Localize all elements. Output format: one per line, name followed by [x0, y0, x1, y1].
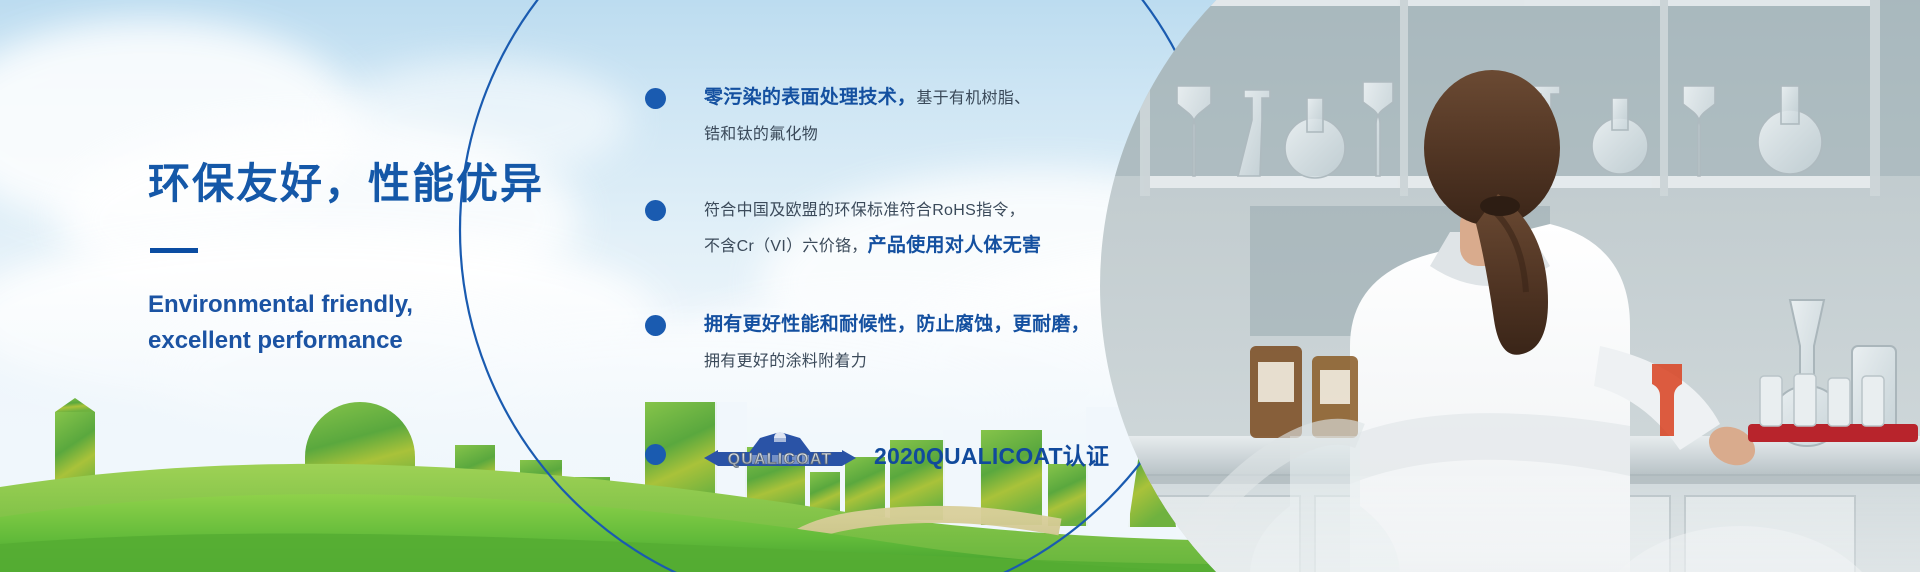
laboratory-photo [1100, 0, 1920, 572]
title-divider [150, 248, 198, 253]
feature-strong-text: 产品使用对人体无害 [868, 235, 1042, 256]
feature-item: 零污染的表面处理技术，基于有机树脂、 锆和钛的氟化物 [645, 88, 1165, 143]
page-title-en: Environmental friendly, excellent perfor… [148, 287, 618, 359]
page-title-en-line1: Environmental friendly, [148, 291, 413, 318]
qualicoat-logo-icon: QUALICOAT [704, 432, 856, 476]
feature-normal-text: 拥有更好的涂料附着力 [704, 353, 867, 370]
feature-line-2: 拥有更好的涂料附着力 [704, 351, 1090, 370]
feature-line-2: 锆和钛的氟化物 [704, 124, 1030, 143]
feature-normal-text: 锆和钛的氟化物 [704, 126, 818, 143]
certification-label: 2020QUALICOAT认证 [874, 437, 1109, 471]
feature-normal-text: 基于有机树脂、 [916, 90, 1030, 107]
certification-item: QUALICOAT 2020QUALICOAT认证 [645, 432, 1165, 476]
feature-line-1: 零污染的表面处理技术，基于有机树脂、 [704, 88, 1030, 107]
qualicoat-wordmark: QUALICOAT [728, 451, 833, 468]
bullet-dot-icon [645, 444, 666, 465]
lab-photo-container [1100, 0, 1920, 572]
bullet-dot-icon [645, 315, 666, 336]
bullet-dot-icon [645, 88, 666, 109]
feature-list: 零污染的表面处理技术，基于有机树脂、 锆和钛的氟化物 符合中国及欧盟的环保标准符… [645, 78, 1165, 476]
feature-item: 拥有更好性能和耐候性，防止腐蚀，更耐磨， 拥有更好的涂料附着力 [645, 315, 1165, 370]
headline-block: 环保友好，性能优异 Environmental friendly, excell… [148, 160, 618, 359]
feature-strong-text: 拥有更好性能和耐候性，防止腐蚀，更耐磨， [704, 314, 1090, 335]
circular-photo-mask [1100, 0, 1920, 572]
feature-item: 符合中国及欧盟的环保标准符合RoHS指令， 不含Cr（VI）六价铬，产品使用对人… [645, 200, 1165, 255]
feature-line-1: 拥有更好性能和耐候性，防止腐蚀，更耐磨， [704, 315, 1090, 334]
feature-normal-text: 符合中国及欧盟的环保标准符合RoHS指令， [704, 202, 1025, 219]
feature-line-2: 不含Cr（VI）六价铬，产品使用对人体无害 [704, 236, 1041, 255]
page-title-cn: 环保友好，性能优异 [148, 160, 618, 208]
feature-normal-text: 不含Cr（VI）六价铬， [704, 238, 868, 255]
page-title-en-line2: excellent performance [148, 327, 403, 354]
feature-strong-text: 零污染的表面处理技术， [704, 87, 916, 108]
bullet-dot-icon [645, 200, 666, 221]
hero-banner: 环保友好，性能优异 Environmental friendly, excell… [0, 0, 1920, 572]
feature-line-1: 符合中国及欧盟的环保标准符合RoHS指令， [704, 200, 1041, 219]
